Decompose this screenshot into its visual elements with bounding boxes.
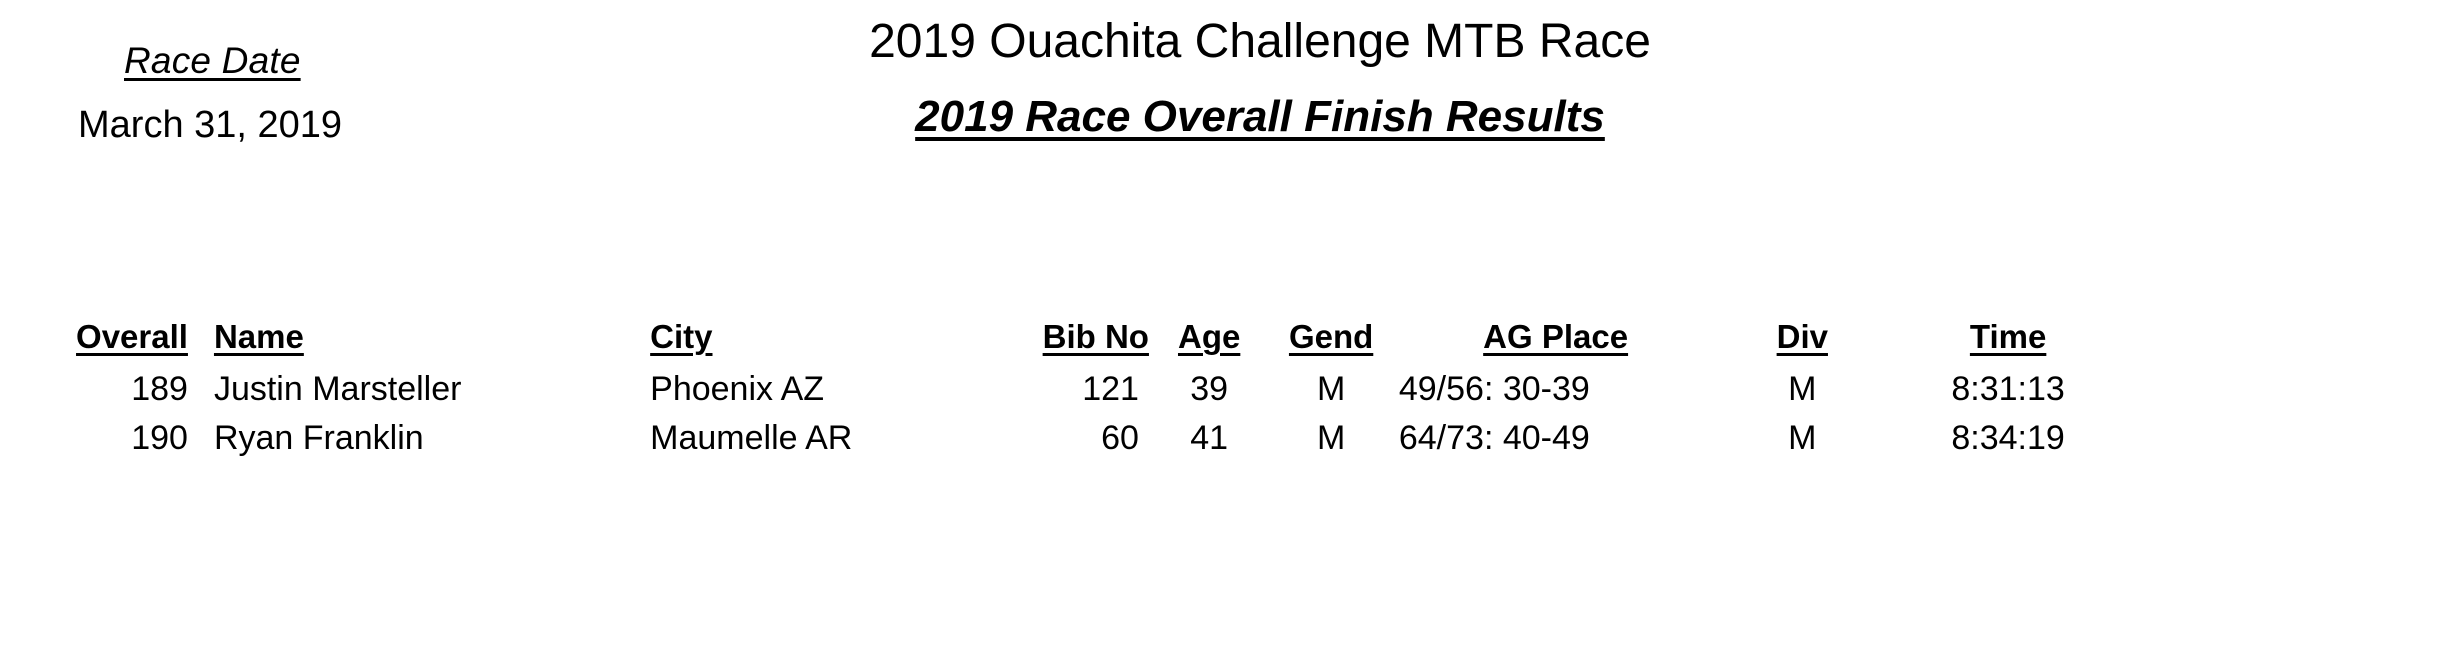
column-header-ag-place[interactable]: AG Place <box>1395 318 1717 360</box>
cell-age: 39 <box>1151 360 1267 409</box>
header-row: Overall Name City Bib No Age Gend AG Pla… <box>70 318 2110 360</box>
column-header-gend-label: Gend <box>1289 318 1373 356</box>
cell-age: 41 <box>1151 409 1267 458</box>
cell-ag-place: 49/56: 30-39 <box>1395 360 1717 409</box>
table-row[interactable]: 189 Justin Marsteller Phoenix AZ 121 39 … <box>70 360 2110 409</box>
page-title: 2019 Ouachita Challenge MTB Race <box>780 14 1740 69</box>
cell-time: 8:34:19 <box>1888 409 2110 458</box>
cell-ag-place: 64/73: 40-49 <box>1395 409 1717 458</box>
race-date-label: Race Date <box>124 40 301 82</box>
column-header-overall-label: Overall <box>76 318 188 356</box>
cell-div: M <box>1716 409 1888 458</box>
results-table-container: Overall Name City Bib No Age Gend AG Pla… <box>0 318 2446 458</box>
results-table-body: 189 Justin Marsteller Phoenix AZ 121 39 … <box>70 360 2110 458</box>
column-header-time-label: Time <box>1970 318 2046 356</box>
cell-bib-no: 60 <box>985 409 1151 458</box>
cell-gend: M <box>1267 409 1395 458</box>
column-header-bib-no-label: Bib No <box>1043 318 1149 356</box>
page-subtitle-text: 2019 Race Overall Finish Results <box>915 92 1605 141</box>
cell-time: 8:31:13 <box>1888 360 2110 409</box>
results-table: Overall Name City Bib No Age Gend AG Pla… <box>70 318 2110 458</box>
cell-overall: 190 <box>70 409 192 458</box>
race-results-page: Race Date March 31, 2019 2019 Ouachita C… <box>0 0 2446 652</box>
cell-gend: M <box>1267 360 1395 409</box>
column-header-age-label: Age <box>1178 318 1240 356</box>
cell-bib-no: 121 <box>985 360 1151 409</box>
cell-city: Maumelle AR <box>602 409 985 458</box>
cell-div: M <box>1716 360 1888 409</box>
column-header-div[interactable]: Div <box>1716 318 1888 360</box>
cell-name: Justin Marsteller <box>192 360 602 409</box>
cell-overall: 189 <box>70 360 192 409</box>
column-header-city[interactable]: City <box>602 318 985 360</box>
cell-city: Phoenix AZ <box>602 360 985 409</box>
column-header-bib-no[interactable]: Bib No <box>985 318 1151 360</box>
race-date-value: March 31, 2019 <box>78 104 342 147</box>
table-row[interactable]: 190 Ryan Franklin Maumelle AR 60 41 M 64… <box>70 409 2110 458</box>
results-table-header: Overall Name City Bib No Age Gend AG Pla… <box>70 318 2110 360</box>
cell-name: Ryan Franklin <box>192 409 602 458</box>
column-header-ag-place-label: AG Place <box>1483 318 1628 356</box>
column-header-age[interactable]: Age <box>1151 318 1267 360</box>
column-header-city-label: City <box>650 318 712 356</box>
page-subtitle: 2019 Race Overall Finish Results <box>780 92 1740 142</box>
column-header-gend[interactable]: Gend <box>1267 318 1395 360</box>
column-header-div-label: Div <box>1777 318 1828 356</box>
column-header-name[interactable]: Name <box>192 318 602 360</box>
column-header-overall[interactable]: Overall <box>70 318 192 360</box>
column-header-name-label: Name <box>214 318 304 356</box>
column-header-time[interactable]: Time <box>1888 318 2110 360</box>
